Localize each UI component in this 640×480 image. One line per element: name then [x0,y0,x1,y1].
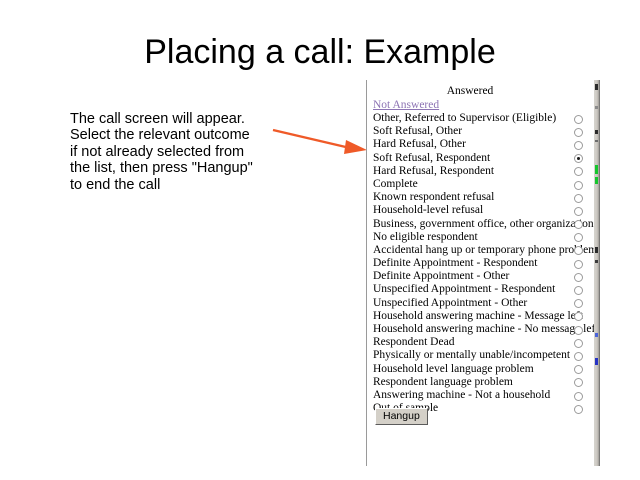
call-outcome-row[interactable]: Respondent language problem [367,376,597,389]
instruction-line: to end the call [70,177,285,193]
page-title: Placing a call: Example [0,33,640,72]
call-outcome-radio[interactable] [574,181,583,190]
call-outcome-label: Unspecified Appointment - Respondent [373,283,555,296]
call-outcome-radio[interactable] [574,273,583,282]
call-outcome-label: Hard Refusal, Respondent [373,165,494,178]
instruction-text: The call screen will appear. Select the … [70,111,285,193]
hangup-button[interactable]: Hangup [375,408,428,425]
instruction-line: if not already selected from [70,144,285,160]
call-outcome-label: Business, government office, other organ… [373,218,594,231]
call-outcome-row[interactable]: Other, Referred to Supervisor (Eligible) [367,112,597,125]
call-outcome-label: Accidental hang up or temporary phone pr… [373,244,597,257]
call-outcome-row[interactable]: Unspecified Appointment - Respondent [367,283,597,296]
call-outcome-label: Known respondent refusal [373,191,494,204]
call-outcome-label: Physically or mentally unable/incompeten… [373,349,570,362]
call-outcome-list: Other, Referred to Supervisor (Eligible)… [367,112,597,415]
call-outcome-label: Household-level refusal [373,204,483,217]
call-outcome-radio[interactable] [574,405,583,414]
call-outcome-radio[interactable] [574,154,583,163]
call-outcome-row[interactable]: Definite Appointment - Other [367,270,597,283]
call-outcome-label: Household answering machine - No message… [373,323,598,336]
call-outcome-radio[interactable] [574,260,583,269]
call-outcome-radio[interactable] [574,365,583,374]
edge-artifact [595,84,598,90]
call-outcome-radio[interactable] [574,299,583,308]
call-outcome-row[interactable]: Answering machine - Not a household [367,389,597,402]
call-outcome-label: Respondent Dead [373,336,454,349]
call-outcome-radio[interactable] [574,352,583,361]
call-outcome-radio[interactable] [574,141,583,150]
call-outcome-row[interactable]: Definite Appointment - Respondent [367,257,597,270]
call-outcome-row[interactable]: Accidental hang up or temporary phone pr… [367,244,597,257]
answered-heading: Answered [367,85,573,97]
not-answered-link[interactable]: Not Answered [373,99,439,111]
edge-artifact [595,260,598,263]
edge-artifact [595,130,598,134]
call-outcome-radio[interactable] [574,233,583,242]
call-outcome-radio[interactable] [574,339,583,348]
instruction-line: Select the relevant outcome [70,127,285,143]
call-outcome-label: Soft Refusal, Other [373,125,462,138]
call-outcome-radio[interactable] [574,392,583,401]
call-outcome-label: Complete [373,178,418,191]
call-outcome-row[interactable]: Household level language problem [367,363,597,376]
call-outcome-label: Answering machine - Not a household [373,389,550,402]
call-outcome-row[interactable]: Known respondent refusal [367,191,597,204]
call-outcome-label: Definite Appointment - Other [373,270,509,283]
call-outcome-radio[interactable] [574,286,583,295]
call-outcome-radio[interactable] [574,128,583,137]
call-outcome-row[interactable]: Business, government office, other organ… [367,218,597,231]
edge-artifact [595,333,598,337]
call-outcome-radio[interactable] [574,378,583,387]
call-outcome-row[interactable]: Household answering machine - Message le… [367,310,597,323]
call-outcome-radio[interactable] [574,326,583,335]
call-outcome-row[interactable]: Soft Refusal, Respondent [367,152,597,165]
call-outcome-label: Unspecified Appointment - Other [373,297,527,310]
call-outcome-label: Definite Appointment - Respondent [373,257,538,270]
call-outcome-row[interactable]: Respondent Dead [367,336,597,349]
call-screen-window: Answered Not Answered Other, Referred to… [366,80,596,466]
edge-artifact [595,358,598,365]
instruction-line: The call screen will appear. [70,111,285,127]
call-outcome-label: Other, Referred to Supervisor (Eligible) [373,112,556,125]
edge-artifact [595,247,598,253]
edge-artifact [595,106,598,109]
call-outcome-row[interactable]: Soft Refusal, Other [367,125,597,138]
edge-artifact [595,140,598,142]
call-outcome-label: Household level language problem [373,363,534,376]
call-outcome-label: Household answering machine - Message le… [373,310,583,323]
edge-artifact [595,165,598,174]
call-outcome-radio[interactable] [574,207,583,216]
call-outcome-row[interactable]: No eligible respondent [367,231,597,244]
call-outcome-row[interactable]: Complete [367,178,597,191]
call-outcome-row[interactable]: Hard Refusal, Other [367,138,597,151]
call-outcome-label: Soft Refusal, Respondent [373,152,490,165]
instruction-line: the list, then press "Hangup" [70,160,285,176]
pointer-arrow-icon [272,122,370,162]
window-edge-scrollbar[interactable] [594,80,600,466]
call-outcome-row[interactable]: Household answering machine - No message… [367,323,597,336]
call-outcome-label: Respondent language problem [373,376,513,389]
call-outcome-row[interactable]: Unspecified Appointment - Other [367,297,597,310]
call-outcome-label: No eligible respondent [373,231,478,244]
call-outcome-row[interactable]: Hard Refusal, Respondent [367,165,597,178]
edge-artifact [595,177,598,184]
call-outcome-radio[interactable] [574,194,583,203]
call-outcome-row[interactable]: Household-level refusal [367,204,597,217]
call-outcome-row[interactable]: Physically or mentally unable/incompeten… [367,349,597,362]
call-outcome-radio[interactable] [574,115,583,124]
call-outcome-label: Hard Refusal, Other [373,138,466,151]
call-outcome-radio[interactable] [574,167,583,176]
